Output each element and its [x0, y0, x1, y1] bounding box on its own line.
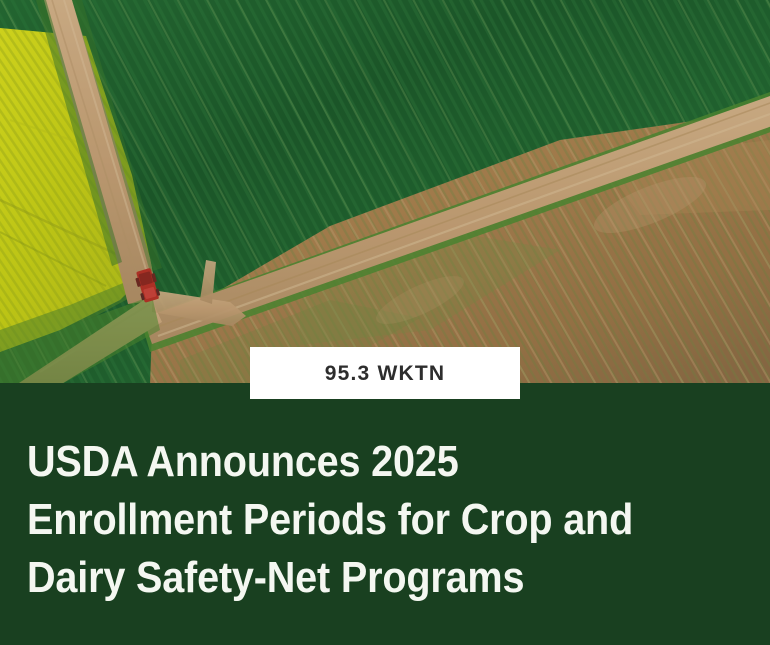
hero-image: [0, 0, 770, 385]
headline-line-2: Enrollment Periods for Crop and: [27, 491, 670, 549]
headline-line-1: USDA Announces 2025: [27, 433, 670, 491]
article-card: 95.3 WKTN USDA Announces 2025 Enrollment…: [0, 0, 770, 645]
page-title: USDA Announces 2025 Enrollment Periods f…: [27, 433, 670, 607]
headline-line-3: Dairy Safety-Net Programs: [27, 549, 670, 607]
station-badge: 95.3 WKTN: [250, 347, 520, 399]
aerial-farm-illustration: [0, 0, 770, 385]
station-badge-label: 95.3 WKTN: [325, 363, 446, 384]
headline-panel: USDA Announces 2025 Enrollment Periods f…: [0, 383, 770, 645]
